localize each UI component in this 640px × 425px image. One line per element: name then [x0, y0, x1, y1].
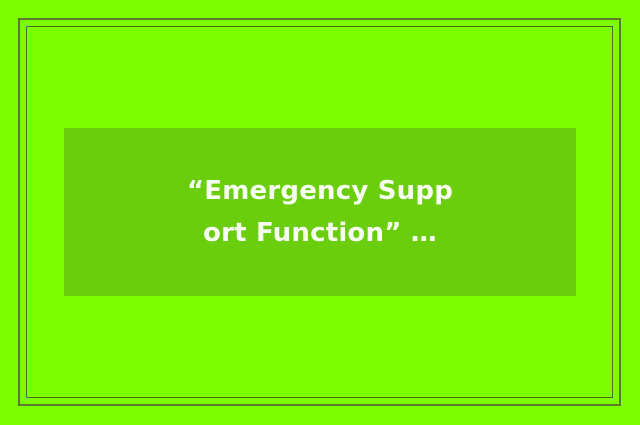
- headline-line-1: “Emergency Supp: [187, 170, 453, 212]
- headline-line-2: ort Function” …: [203, 212, 437, 254]
- slide-canvas: “Emergency Supp ort Function” …: [0, 0, 640, 425]
- content-panel: “Emergency Supp ort Function” …: [64, 128, 576, 296]
